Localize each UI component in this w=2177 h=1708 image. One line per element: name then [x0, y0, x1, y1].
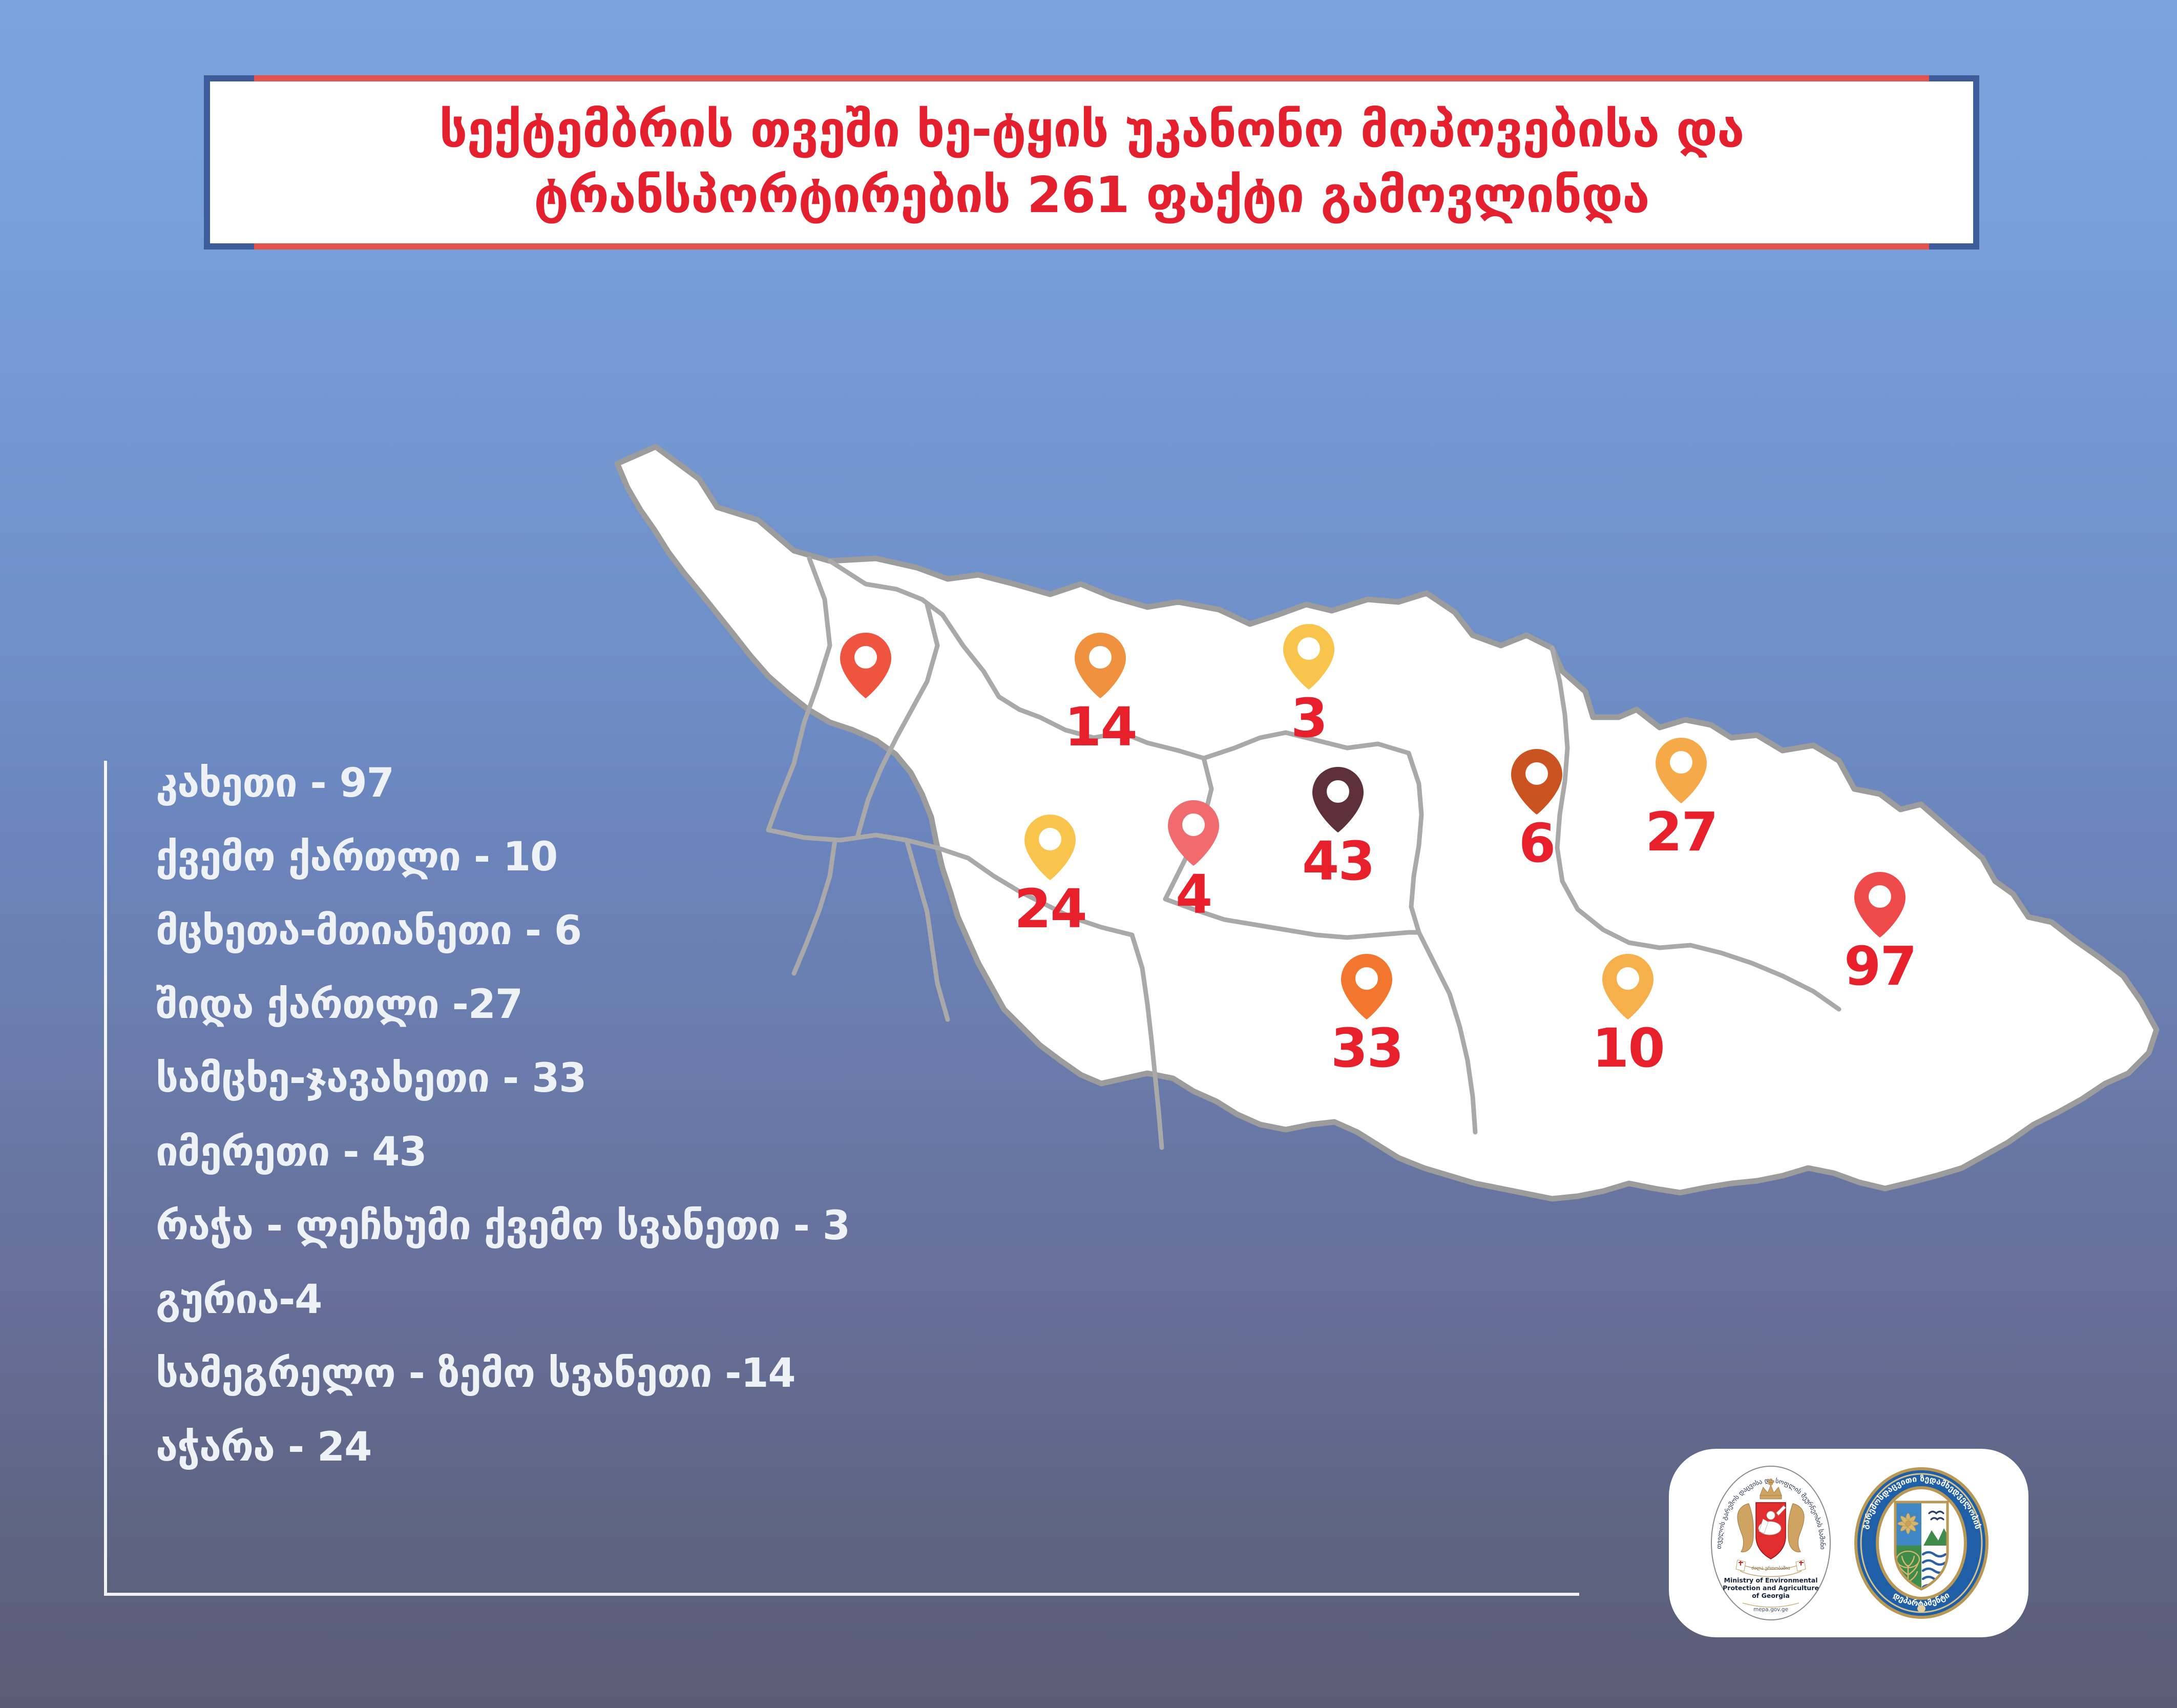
- mepa-logo-icon: საქართველოს გარემოს დაცვისა და სოფლის მე…: [1707, 1464, 1835, 1622]
- svg-text:ძალა ერთობაშია: ძალა ერთობაშია: [1751, 1566, 1790, 1571]
- svg-text:mepa.gov.ge: mepa.gov.ge: [1753, 1607, 1788, 1613]
- list-item: მცხეთა-მთიანეთი - 6: [156, 911, 1539, 951]
- marker-value-samegrelo: 14: [1064, 700, 1137, 754]
- list-item: იმერეთი - 43: [156, 1132, 1539, 1172]
- marker-kakheti[interactable]: 97: [1844, 872, 1916, 993]
- svg-text:Protection and Agriculture: Protection and Agriculture: [1723, 1584, 1819, 1592]
- supervision-logo-icon: გარემოსდაცვითი ზედამხედველობის დეპარტამე…: [1852, 1466, 1991, 1620]
- svg-text:of Georgia: of Georgia: [1752, 1592, 1790, 1599]
- page-title: სექტემბრის თვეში ხე-ტყის უკანონო მოპოვებ…: [210, 81, 1973, 243]
- list-item: ქვემო ქართლი - 10: [156, 837, 1539, 877]
- marker-achara[interactable]: [840, 633, 891, 698]
- map-pin-icon: [1854, 872, 1906, 938]
- marker-racha[interactable]: 3: [1283, 624, 1334, 745]
- list-item: სამცხე-ჯავახეთი - 33: [156, 1058, 1539, 1098]
- map-pin-icon: [840, 633, 891, 698]
- list-item: აჭარა - 24: [156, 1427, 1539, 1467]
- svg-text:Ministry of Environmental: Ministry of Environmental: [1724, 1576, 1818, 1584]
- marker-value-racha: 3: [1291, 692, 1327, 745]
- marker-samegrelo[interactable]: 14: [1064, 633, 1137, 754]
- title-accent-strip-top: [254, 75, 1929, 81]
- list-item: სამეგრელო - ზემო სვანეთი -14: [156, 1353, 1539, 1393]
- logo-badge: საქართველოს გარემოს დაცვისა და სოფლის მე…: [1669, 1449, 2028, 1637]
- title-line-2: ტრანსპორტირების 261 ფაქტი გამოვლინდა: [534, 162, 1649, 228]
- marker-value-kvemo-kartli: 10: [1592, 1022, 1664, 1075]
- list-item: კახეთი - 97: [156, 763, 1539, 803]
- marker-shida-kartli[interactable]: 27: [1645, 738, 1718, 859]
- region-statistics-list: კახეთი - 97 ქვემო ქართლი - 10 მცხეთა-მთი…: [156, 763, 1539, 1467]
- legend-panel: კახეთი - 97 ქვემო ქართლი - 10 მცხეთა-მთი…: [104, 761, 1579, 1596]
- marker-value-shida-kartli: 27: [1645, 805, 1718, 859]
- list-item: შიდა ქართლი -27: [156, 985, 1539, 1025]
- title-banner: სექტემბრის თვეში ხე-ტყის უკანონო მოპოვებ…: [204, 75, 1979, 249]
- title-line-1: სექტემბრის თვეში ხე-ტყის უკანონო მოპოვებ…: [439, 97, 1744, 162]
- map-pin-icon: [1602, 954, 1653, 1019]
- title-accent-strip-bottom: [254, 243, 1929, 249]
- marker-kvemo-kartli[interactable]: 10: [1592, 954, 1664, 1075]
- marker-value-kakheti: 97: [1844, 940, 1916, 993]
- map-pin-icon: [1283, 624, 1334, 690]
- list-item: რაჭა - ლეჩხუმი ქვემო სვანეთი - 3: [156, 1206, 1539, 1246]
- map-pin-icon: [1075, 633, 1126, 698]
- map-pin-icon: [1656, 738, 1707, 803]
- list-item: გურია-4: [156, 1280, 1539, 1320]
